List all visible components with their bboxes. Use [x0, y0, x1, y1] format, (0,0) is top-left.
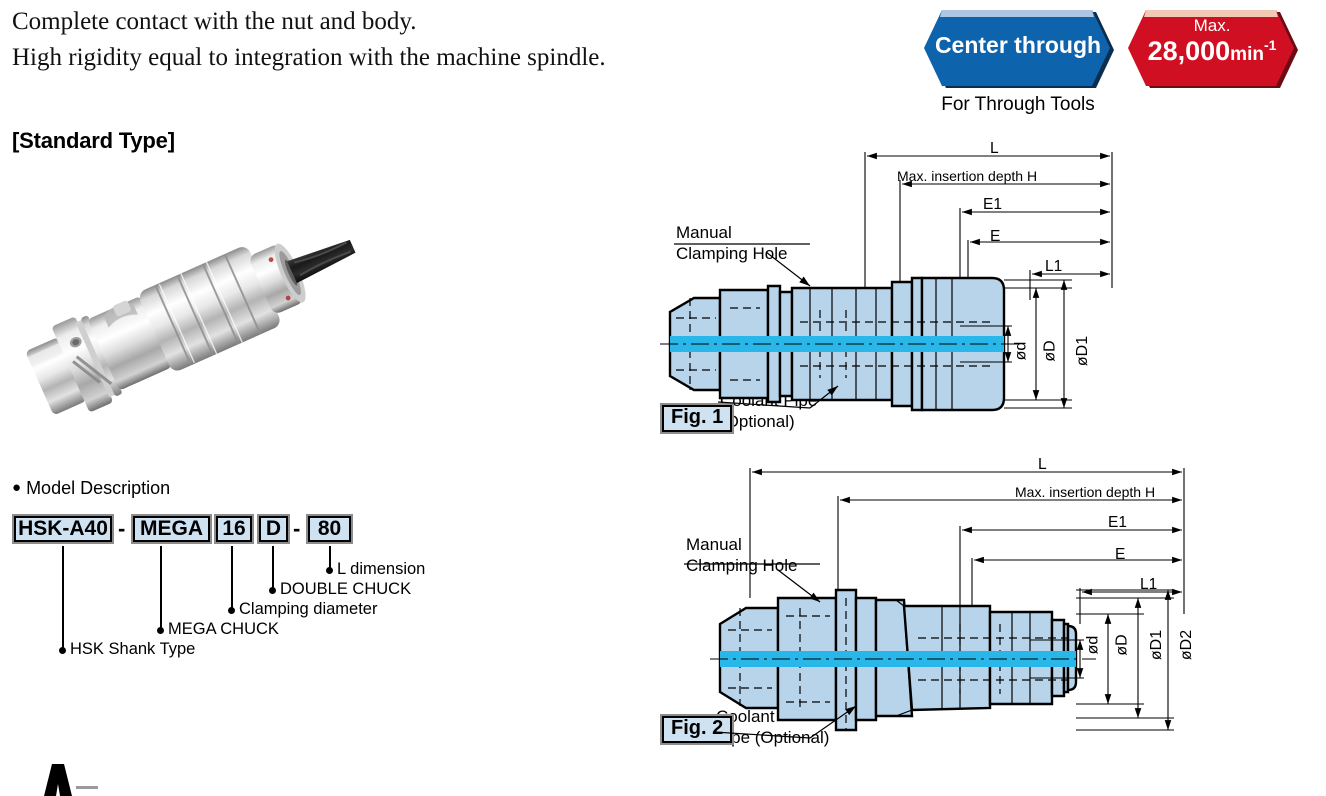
badge-max-exponent: -1 — [1264, 37, 1276, 53]
model-code-part-diameter: 16 — [214, 514, 254, 544]
badge-center-through-caption: For Through Tools — [918, 94, 1118, 116]
brand-logo-icon — [30, 756, 90, 796]
model-code-part-double: D — [257, 514, 290, 544]
badge-center-through-label: Center through — [918, 32, 1118, 59]
model-code-part-shank: HSK-A40 — [12, 514, 114, 544]
leader-line-double-chuck — [272, 546, 274, 590]
badge-max-unit: min — [1230, 44, 1264, 65]
badge-max-value-row: 28,000min-1 — [1122, 36, 1302, 67]
product-photo — [18, 188, 368, 438]
badge-max-value: 28,000 — [1148, 36, 1231, 66]
model-code-part-length: 80 — [306, 514, 353, 544]
figure-1: L Max. insertion depth H E1 E L1 Manual … — [660, 140, 1320, 450]
annotation-l-dimension: L dimension — [337, 560, 425, 579]
badge-max-prefix: Max. — [1122, 16, 1302, 36]
model-code-separator-2: - — [293, 516, 300, 542]
leader-dot-mega-chuck — [157, 627, 164, 634]
badge-center-through: Center through For Through Tools — [918, 6, 1118, 84]
leader-line-mega-chuck — [160, 546, 162, 630]
leader-line-clamping-diameter — [231, 546, 233, 610]
model-description-heading: ●Model Description — [12, 478, 170, 499]
model-code-separator-1: - — [118, 516, 125, 542]
figure-2: L Max. insertion depth H E1 E L1 Manual … — [660, 448, 1320, 784]
model-description-label: Model Description — [26, 478, 170, 498]
intro-paragraph: Complete contact with the nut and body. … — [12, 4, 612, 76]
leader-dot-hsk-shank — [59, 647, 66, 654]
standard-type-heading: [Standard Type] — [12, 128, 175, 154]
leader-dot-double-chuck — [269, 587, 276, 594]
bullet-icon: ● — [12, 479, 21, 496]
annotation-hsk-shank: HSK Shank Type — [70, 640, 195, 659]
annotation-mega-chuck: MEGA CHUCK — [168, 620, 279, 639]
intro-line-2: High rigidity equal to integration with … — [12, 40, 612, 76]
annotation-clamping-diameter: Clamping diameter — [239, 600, 377, 619]
leader-line-hsk-shank — [62, 546, 64, 650]
badge-row: Center through For Through Tools Max. 28… — [918, 6, 1318, 126]
model-code-part-mega: MEGA — [131, 514, 212, 544]
annotation-double-chuck: DOUBLE CHUCK — [280, 580, 411, 599]
leader-dot-l-dimension — [326, 567, 333, 574]
intro-line-1: Complete contact with the nut and body. — [12, 4, 612, 40]
badge-max-speed: Max. 28,000min-1 — [1122, 6, 1302, 84]
leader-dot-clamping-diameter — [228, 607, 235, 614]
